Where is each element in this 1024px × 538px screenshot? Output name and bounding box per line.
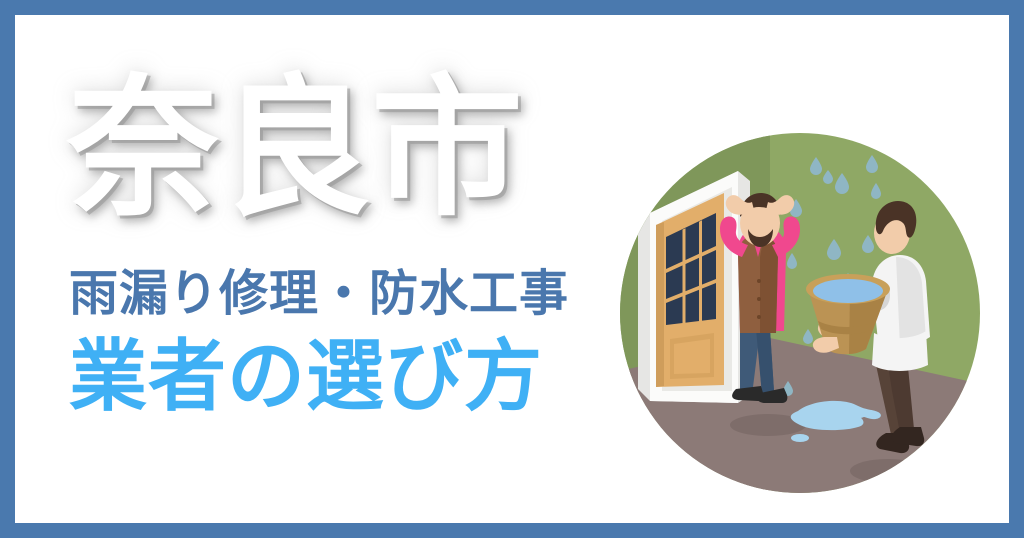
page-title-city: 奈良市 [67,73,523,225]
subtitle-topic: 業者の選び方 [69,337,543,415]
door-mullion-v1 [683,228,686,323]
door-lower-panel-inner [674,339,710,374]
poster-inner-card: 奈良市 雨漏り修理・防水工事 業者の選び方 [15,15,1009,523]
subtitle-service: 雨漏り修理・防水工事 [69,270,569,319]
illustration-svg [620,133,980,493]
door-mullion-v2 [699,220,702,321]
door-leaf-edge [656,222,664,387]
rain-leak-illustration [620,133,980,493]
headline-block: 奈良市 雨漏り修理・防水工事 業者の選び方 [55,55,615,455]
poster-canvas: 奈良市 雨漏り修理・防水工事 業者の選び方 [0,0,1024,538]
shadow-right-person [850,459,926,483]
bucket-water [813,279,883,303]
